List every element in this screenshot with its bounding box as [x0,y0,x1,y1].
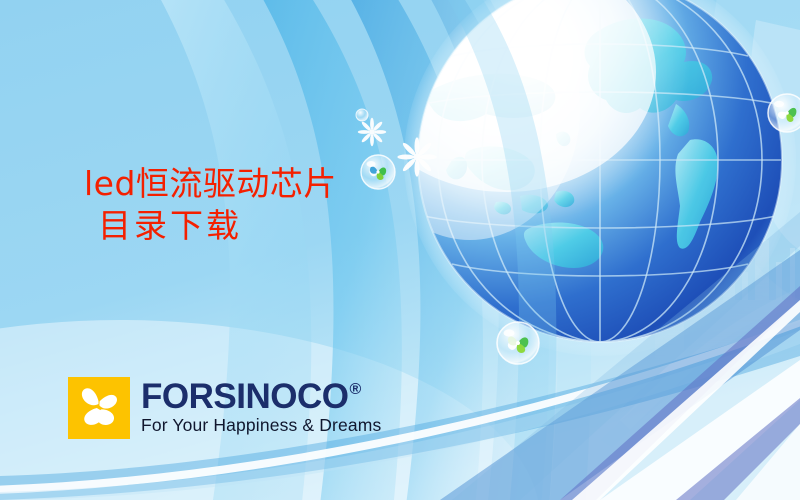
promotional-banner: led恒流驱动芯片 目录下载 FORSINOCO [0,0,800,500]
headline-line-1: led恒流驱动芯片 [84,163,337,205]
headline-text: led恒流驱动芯片 目录下载 [84,163,337,247]
starburst-large [397,137,436,176]
logo-tagline: For Your Happiness & Dreams [141,415,381,436]
starburst-small [358,118,386,146]
logo-text-block: FORSINOCO ® For Your Happiness & Dreams [141,380,381,436]
bubble-pinwheel-left [361,155,395,189]
registered-trademark-icon: ® [349,382,360,398]
headline-line-2: 目录下载 [84,205,337,247]
logo-wordmark-text: FORSINOCO [141,380,348,414]
bubble-pinwheel-center [497,322,539,364]
bubble-small-upper [356,109,368,121]
bubble-pinwheel-right-edge [768,94,800,132]
logo-wordmark-row: FORSINOCO ® [141,380,381,414]
company-logo[interactable]: FORSINOCO ® For Your Happiness & Dreams [68,377,381,439]
forsinoco-clover-mark-icon [68,377,130,439]
